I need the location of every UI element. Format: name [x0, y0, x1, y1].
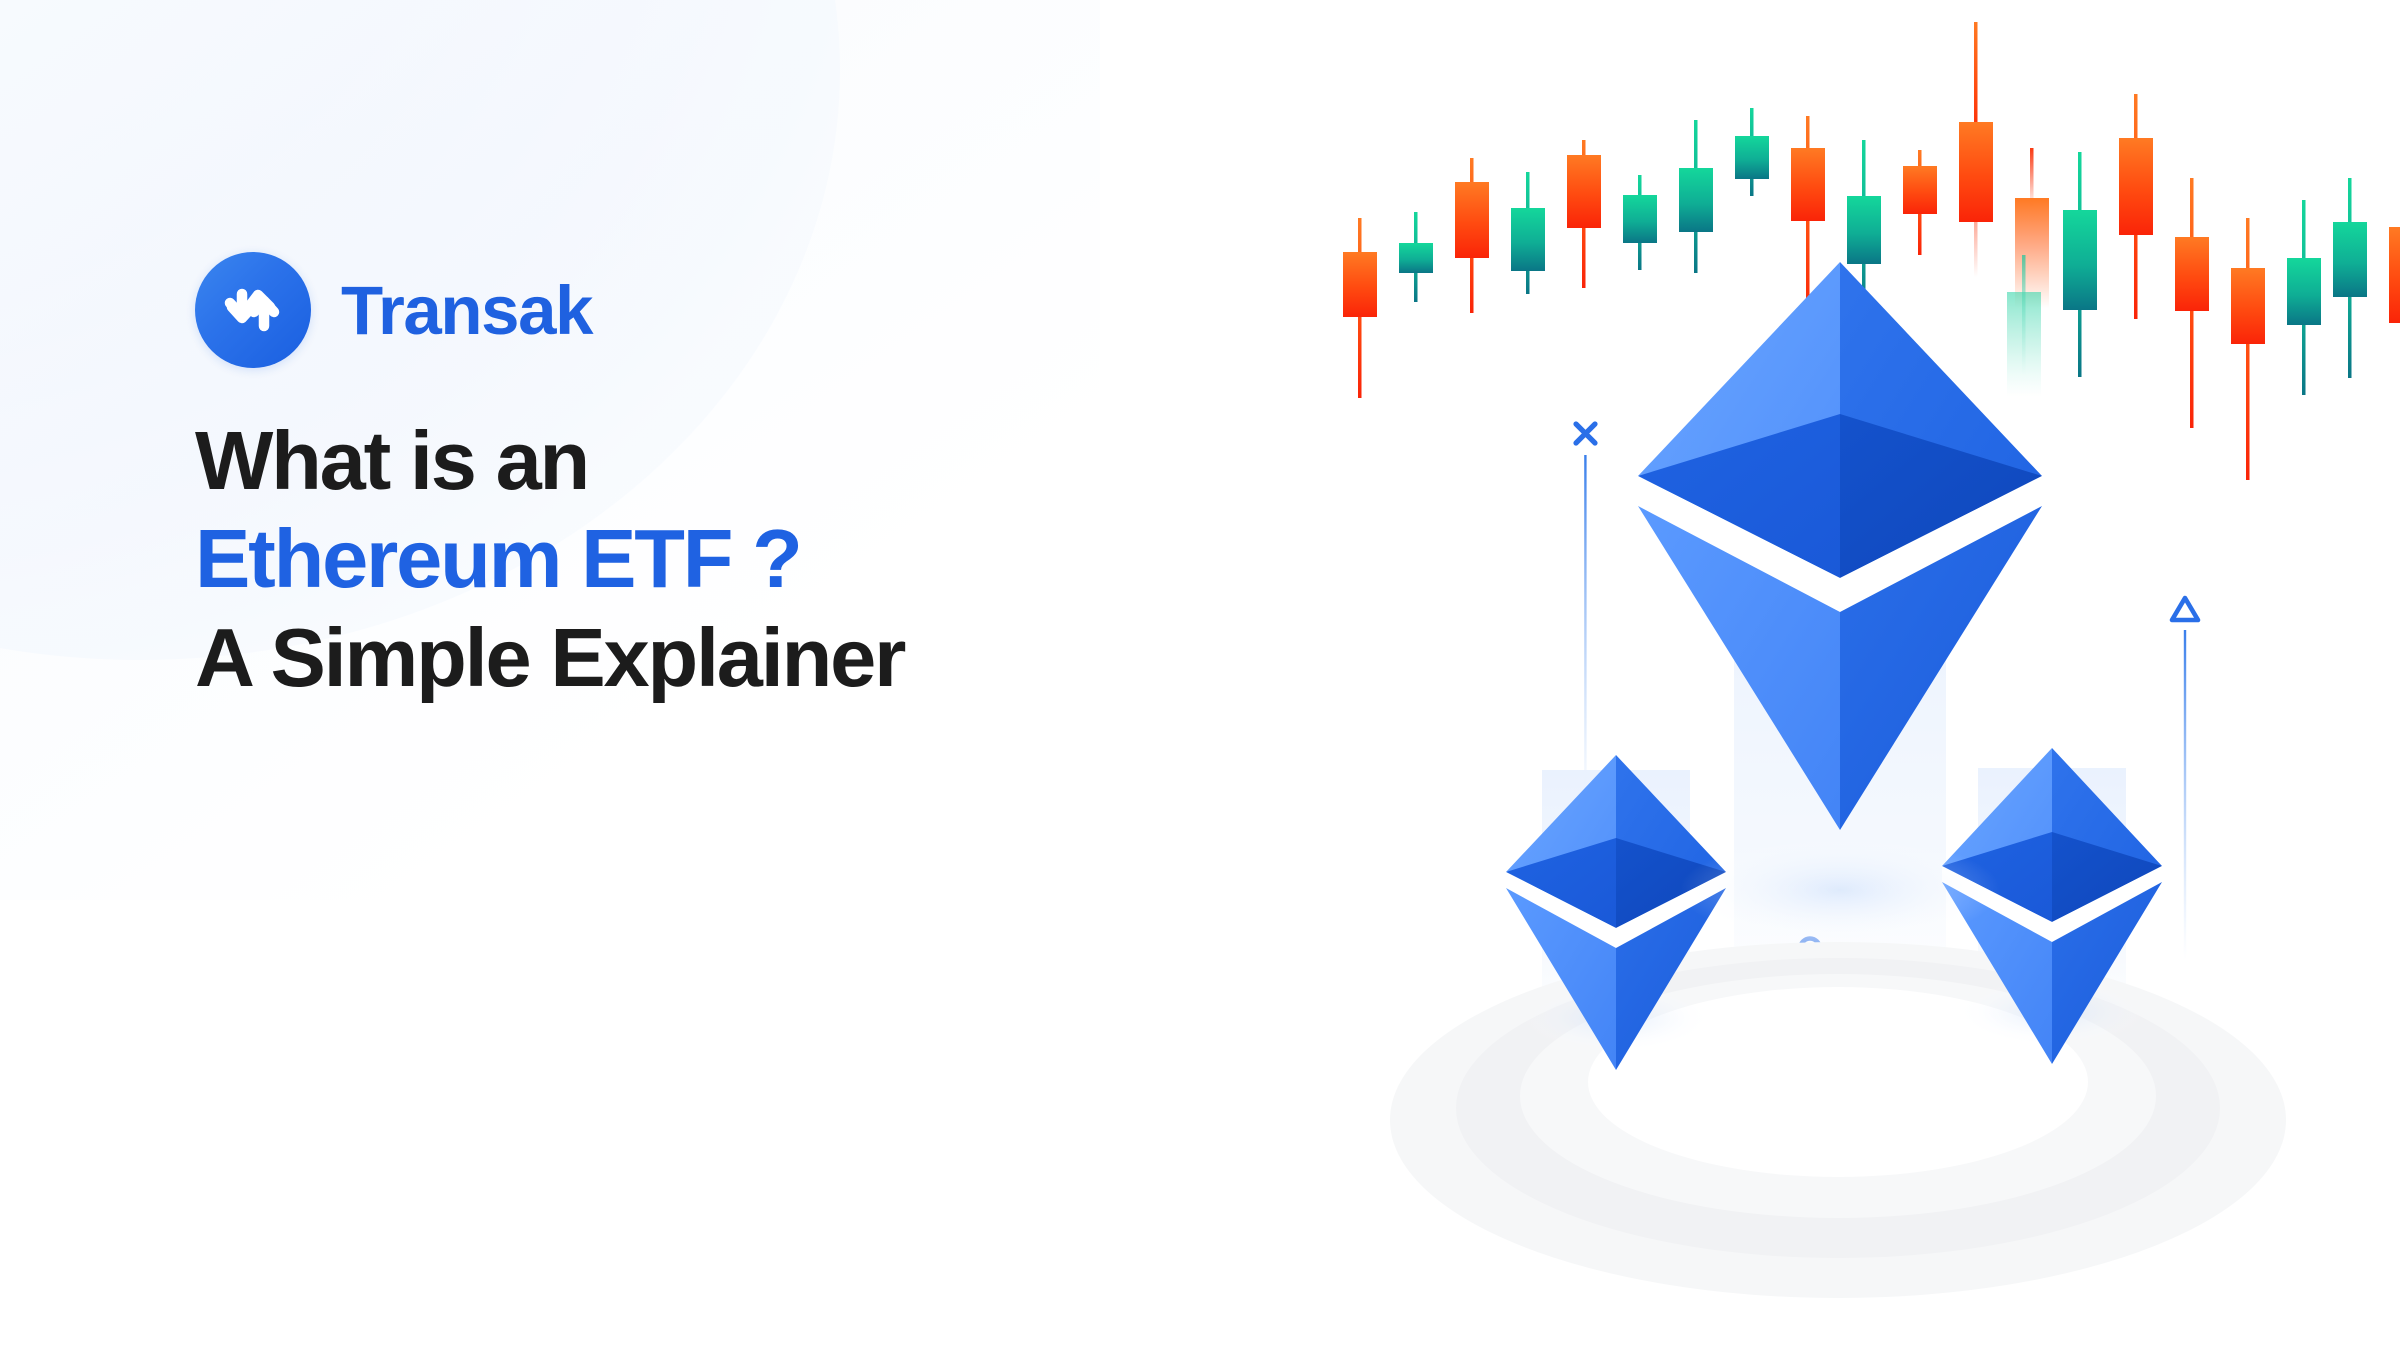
headline-line-3: A Simple Explainer: [195, 612, 1195, 703]
headline-line-2: Ethereum ETF ?: [195, 513, 1195, 604]
left-content-column: Transak What is an Ethereum ETF ? A Simp…: [195, 0, 1295, 1350]
ethereum-etf-illustration: [1330, 0, 2400, 1350]
page-title: What is an Ethereum ETF ? A Simple Expla…: [195, 415, 1195, 710]
headline-line-1: What is an: [195, 415, 1195, 506]
candlestick-cluster-right-overflow: [2389, 128, 2400, 418]
eth-logo-left: [1506, 755, 1726, 1070]
marker-triangle: [2172, 598, 2198, 960]
page-root: Transak What is an Ethereum ETF ? A Simp…: [0, 0, 2400, 1350]
podium-rings: [1390, 942, 2286, 1298]
marker-cross: [1576, 424, 1595, 815]
transak-logo-mark: [195, 252, 311, 368]
brand-name: Transak: [341, 276, 592, 345]
brand-logo[interactable]: Transak: [195, 252, 592, 368]
candlestick-cluster-right: [2007, 94, 2367, 480]
swap-arrows-icon: [217, 280, 289, 340]
candlestick-cluster-left: [1343, 22, 2049, 398]
